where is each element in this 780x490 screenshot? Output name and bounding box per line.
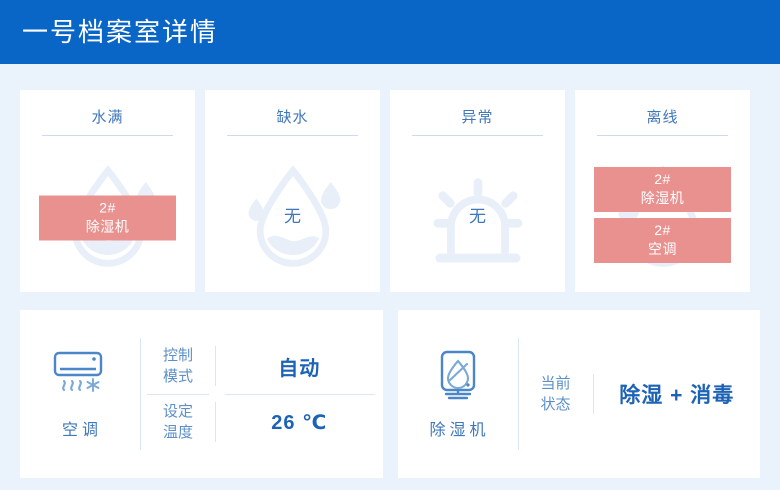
device-badge-number: 2# <box>594 221 731 240</box>
device-badge[interactable]: 2# 除湿机 <box>594 167 731 212</box>
device-name: 空调 <box>58 416 102 440</box>
device-badge[interactable]: 2# 除湿机 <box>39 196 176 241</box>
device-badge-number: 2# <box>594 170 731 189</box>
status-card-water-full[interactable]: 水满 2# 除湿机 <box>20 90 195 292</box>
device-attribute-table: 控制 模式 自动 设定 温度 26 ℃ <box>141 338 383 450</box>
device-panels-row: 空调 控制 模式 自动 设定 温度 26 ℃ <box>20 310 760 478</box>
card-title: 缺水 <box>205 106 380 127</box>
card-title: 异常 <box>390 106 565 127</box>
card-body: 2# 除湿机 2# 空调 <box>575 138 750 292</box>
card-title-divider <box>227 135 358 136</box>
device-name: 除湿机 <box>425 416 489 440</box>
attribute-label-line2: 模式 <box>141 366 215 387</box>
status-card-abnormal[interactable]: 异常 无 <box>390 90 565 292</box>
page-title: 一号档案室详情 <box>22 12 218 52</box>
device-badge[interactable]: 2# 空调 <box>594 218 731 263</box>
attribute-value: 自动 <box>216 352 383 381</box>
card-title: 水满 <box>20 106 195 127</box>
card-title-divider <box>597 135 728 136</box>
attribute-row: 控制 模式 自动 <box>141 338 383 394</box>
attribute-label-line1: 设定 <box>141 401 215 422</box>
attribute-row-divider-value <box>225 394 375 395</box>
attribute-label: 设定 温度 <box>141 401 215 443</box>
status-card-offline[interactable]: 离线 2# 除湿机 2# 空调 <box>575 90 750 292</box>
device-panel-dehumidifier[interactable]: 除湿机 当前 状态 除湿 + 消毒 <box>398 310 761 478</box>
device-badge-stack: 2# 除湿机 <box>39 196 176 241</box>
card-value: 无 <box>205 202 380 227</box>
card-body: 无 <box>205 138 380 292</box>
status-cards-row: 水满 2# 除湿机 缺水 <box>20 90 760 292</box>
card-value: 无 <box>390 202 565 227</box>
attribute-label-line2: 状态 <box>519 394 593 415</box>
device-panel-air-conditioner[interactable]: 空调 控制 模式 自动 设定 温度 26 ℃ <box>20 310 383 478</box>
card-body: 2# 除湿机 <box>20 138 195 292</box>
device-badge-name: 除湿机 <box>39 218 176 237</box>
device-identity: 除湿机 <box>398 348 518 440</box>
attribute-label: 当前 状态 <box>519 373 593 415</box>
attribute-label-line1: 控制 <box>141 345 215 366</box>
device-badge-name: 空调 <box>594 240 731 259</box>
attribute-value: 26 ℃ <box>216 410 383 435</box>
attribute-row: 当前 状态 除湿 + 消毒 <box>519 359 761 429</box>
device-attribute-table: 当前 状态 除湿 + 消毒 <box>519 359 761 429</box>
attribute-label: 控制 模式 <box>141 345 215 387</box>
attribute-label-line1: 当前 <box>519 373 593 394</box>
device-badge-name: 除湿机 <box>594 189 731 208</box>
attribute-row: 设定 温度 26 ℃ <box>141 394 383 450</box>
attribute-value: 除湿 + 消毒 <box>594 379 761 409</box>
card-title-divider <box>42 135 173 136</box>
device-badge-number: 2# <box>39 199 176 218</box>
card-title-divider <box>412 135 543 136</box>
card-body: 无 <box>390 138 565 292</box>
attribute-row-divider-label <box>147 394 209 395</box>
device-badge-stack: 2# 除湿机 2# 空调 <box>594 167 731 263</box>
status-card-water-shortage[interactable]: 缺水 无 <box>205 90 380 292</box>
dehumidifier-icon <box>427 348 489 406</box>
card-title: 离线 <box>575 106 750 127</box>
page-header: 一号档案室详情 <box>0 0 780 64</box>
attribute-label-line2: 温度 <box>141 422 215 443</box>
device-identity: 空调 <box>20 348 140 440</box>
air-conditioner-icon <box>49 348 111 406</box>
